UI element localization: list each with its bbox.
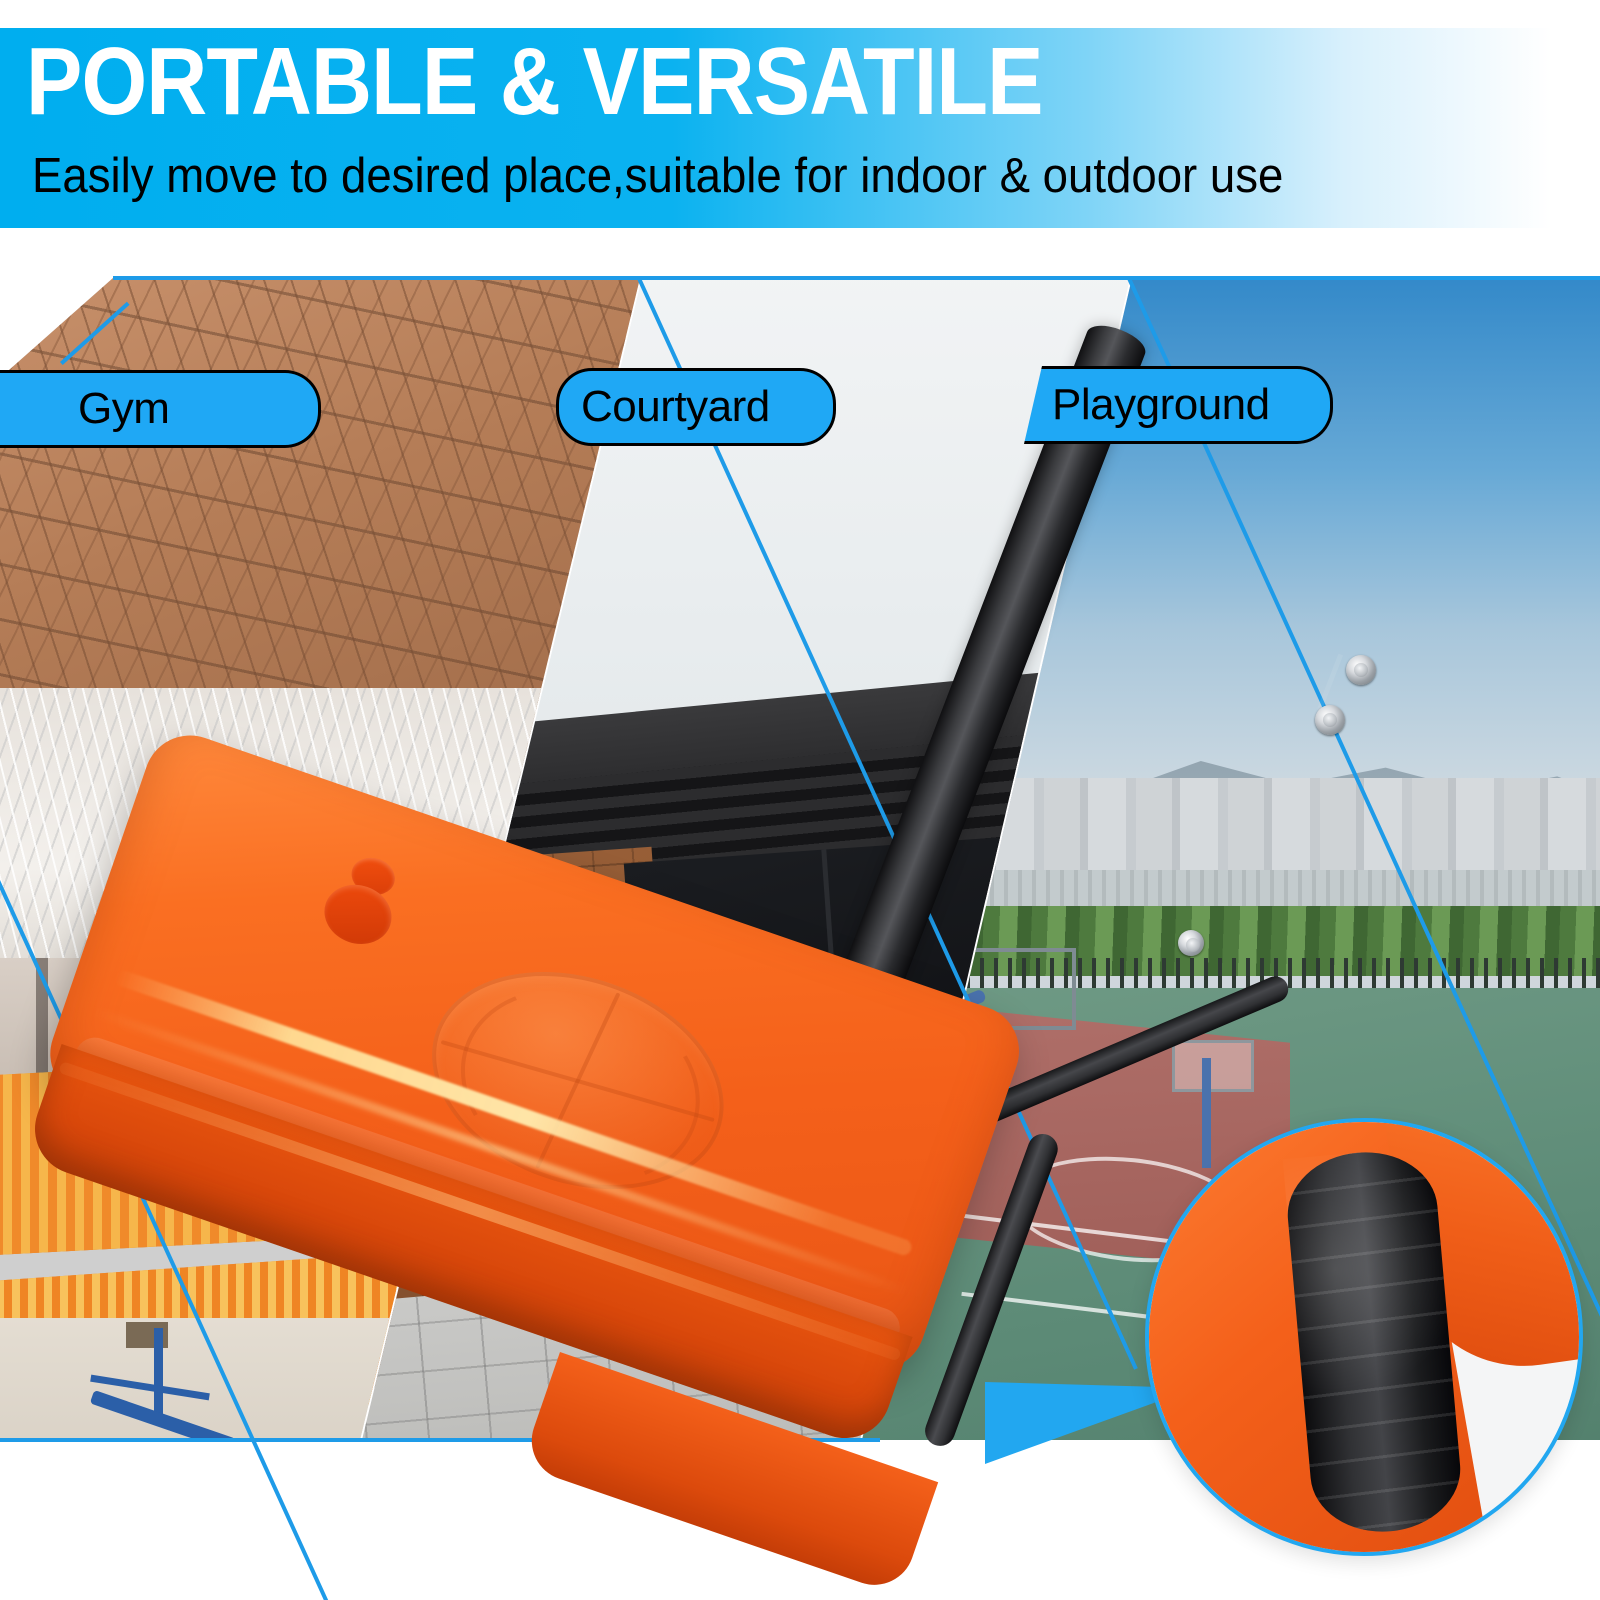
product-feature-image: PORTABLE & VERSATILE Easily move to desi… [0, 0, 1600, 1600]
playground-hoop-far [1150, 1018, 1260, 1168]
scene-badge-gym[interactable]: Gym [0, 370, 321, 448]
scene-badge-gym-label: Gym [78, 384, 169, 434]
scene-panels [0, 258, 1600, 1600]
header-banner: PORTABLE & VERSATILE Easily move to desi… [0, 28, 1600, 228]
gym-portable-hoop [70, 1328, 250, 1438]
page-title: PORTABLE & VERSATILE [26, 28, 1043, 142]
scene-badge-courtyard-label: Courtyard [581, 382, 770, 432]
scene-badge-playground[interactable]: Playground [1024, 366, 1333, 444]
page-subtitle: Easily move to desired place,suitable fo… [32, 146, 1283, 206]
scene-badge-courtyard[interactable]: Courtyard [556, 368, 836, 446]
scene-badge-playground-label: Playground [1052, 380, 1270, 430]
